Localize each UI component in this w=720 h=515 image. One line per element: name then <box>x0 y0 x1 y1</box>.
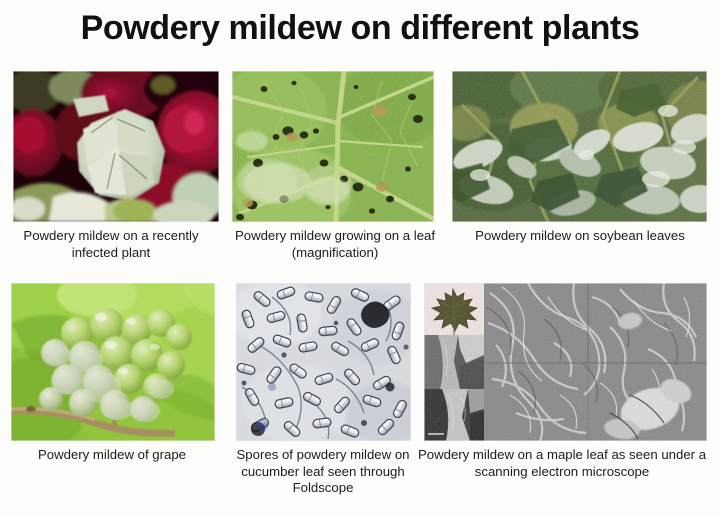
photo-recently-infected-plant <box>13 71 219 222</box>
poster-root: Powdery mildew on different plants <box>0 0 720 515</box>
photo-maple-leaf-sem <box>424 283 707 441</box>
gallery-item-maple-leaf-sem[interactable] <box>424 283 707 441</box>
caption-soybean-leaves: Powdery mildew on soybean leaves <box>450 228 710 245</box>
photo-spores-foldscope <box>236 283 411 441</box>
gallery-item-leaf-magnification[interactable] <box>232 71 434 222</box>
page-title: Powdery mildew on different plants <box>0 9 720 48</box>
photo-soybean-leaves <box>452 71 707 222</box>
caption-recently-infected-plant: Powdery mildew on a recently infected pl… <box>0 228 222 261</box>
caption-grape: Powdery mildew of grape <box>4 447 220 464</box>
caption-leaf-magnification: Powdery mildew growing on a leaf (magnif… <box>225 228 445 261</box>
gallery-item-soybean-leaves[interactable] <box>452 71 707 222</box>
gallery-item-spores-foldscope[interactable] <box>236 283 411 441</box>
gallery-item-grape[interactable] <box>11 283 215 441</box>
photo-grape <box>11 283 215 441</box>
photo-leaf-magnification <box>232 71 434 222</box>
gallery-item-recently-infected-plant[interactable] <box>13 71 219 222</box>
caption-spores-foldscope: Spores of powdery mildew on cucumber lea… <box>228 447 418 497</box>
caption-maple-leaf-sem: Powdery mildew on a maple leaf as seen u… <box>412 447 712 480</box>
